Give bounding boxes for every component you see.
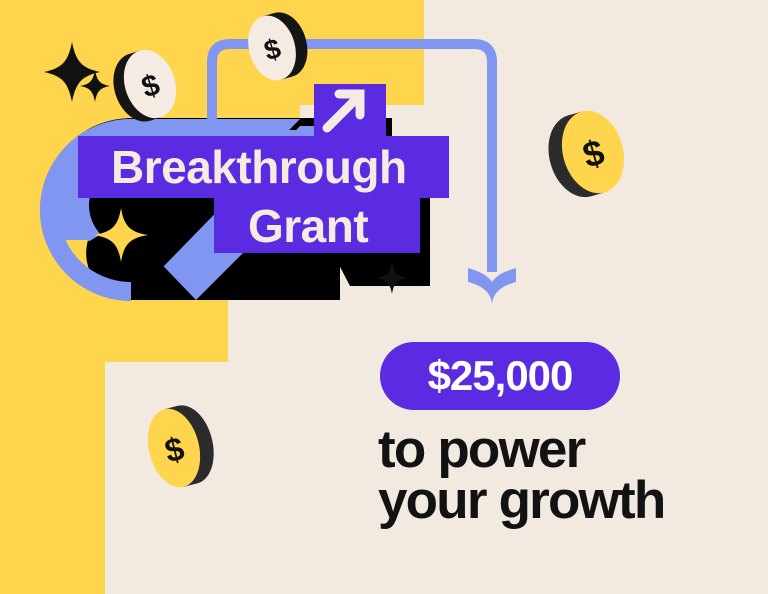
headline: to power your growth [378, 424, 738, 527]
headline-line-1: to power [378, 424, 738, 475]
sparkle-icon [44, 42, 100, 102]
sparkle-icon [377, 262, 407, 294]
amount-pill: $25,000 [380, 342, 620, 410]
amount-value: $25,000 [428, 352, 573, 400]
headline-line-2: your growth [378, 475, 738, 526]
sparkle-icon [94, 208, 148, 262]
promo-graphic: Breakthrough Grant $ $ $ [0, 0, 768, 594]
